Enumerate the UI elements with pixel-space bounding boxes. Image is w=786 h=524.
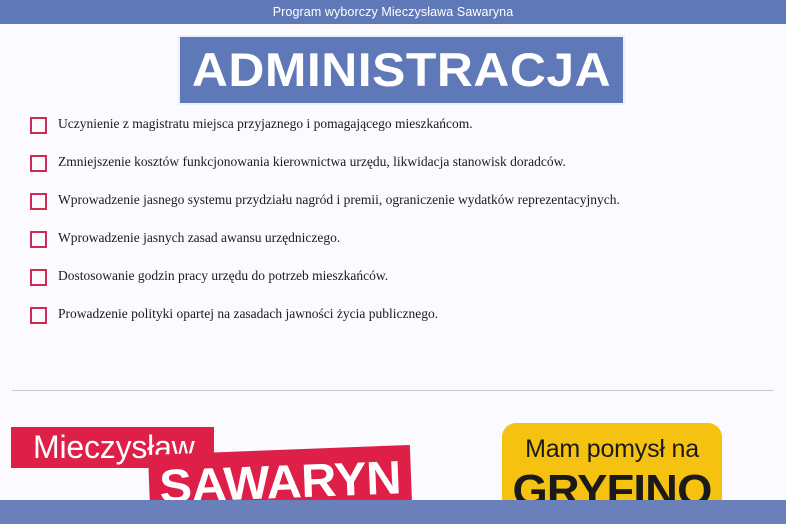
checkbox-icon[interactable] xyxy=(30,117,47,134)
checkbox-icon[interactable] xyxy=(30,307,47,324)
list-item-label: Dostosowanie godzin pracy urzędu do potr… xyxy=(58,268,388,284)
list-item[interactable]: Prowadzenie polityki opartej na zasadach… xyxy=(30,306,770,344)
list-item[interactable]: Zmniejszenie kosztów funkcjonowania kier… xyxy=(30,154,770,192)
checkbox-icon[interactable] xyxy=(30,269,47,286)
page-title: ADMINISTRACJA xyxy=(167,37,637,103)
list-item[interactable]: Wprowadzenie jasnego systemu przydziału … xyxy=(30,192,770,230)
section-divider xyxy=(12,390,774,391)
list-item-label: Zmniejszenie kosztów funkcjonowania kier… xyxy=(58,154,566,170)
footer-bar xyxy=(0,500,786,524)
program-header-banner: Program wyborczy Mieczysława Sawaryna xyxy=(0,0,786,24)
election-program-poster: Program wyborczy Mieczysława Sawaryna AD… xyxy=(0,0,786,524)
program-checklist: Uczynienie z magistratu miejsca przyjazn… xyxy=(30,116,770,344)
list-item[interactable]: Uczynienie z magistratu miejsca przyjazn… xyxy=(30,116,770,154)
checkbox-icon[interactable] xyxy=(30,155,47,172)
program-card: ADMINISTRACJA Uczynienie z magistratu mi… xyxy=(0,24,786,500)
list-item[interactable]: Dostosowanie godzin pracy urzędu do potr… xyxy=(30,268,770,306)
list-item-label: Uczynienie z magistratu miejsca przyjazn… xyxy=(58,116,473,132)
checkbox-icon[interactable] xyxy=(30,231,47,248)
list-item-label: Wprowadzenie jasnego systemu przydziału … xyxy=(58,192,620,208)
slogan-line-1: Mam pomysł na xyxy=(502,423,722,466)
list-item[interactable]: Wprowadzenie jasnych zasad awansu urzędn… xyxy=(30,230,770,268)
list-item-label: Wprowadzenie jasnych zasad awansu urzędn… xyxy=(58,230,340,246)
section-title-banner: ADMINISTRACJA xyxy=(180,37,623,103)
list-item-label: Prowadzenie polityki opartej na zasadach… xyxy=(58,306,438,322)
checkbox-icon[interactable] xyxy=(30,193,47,210)
